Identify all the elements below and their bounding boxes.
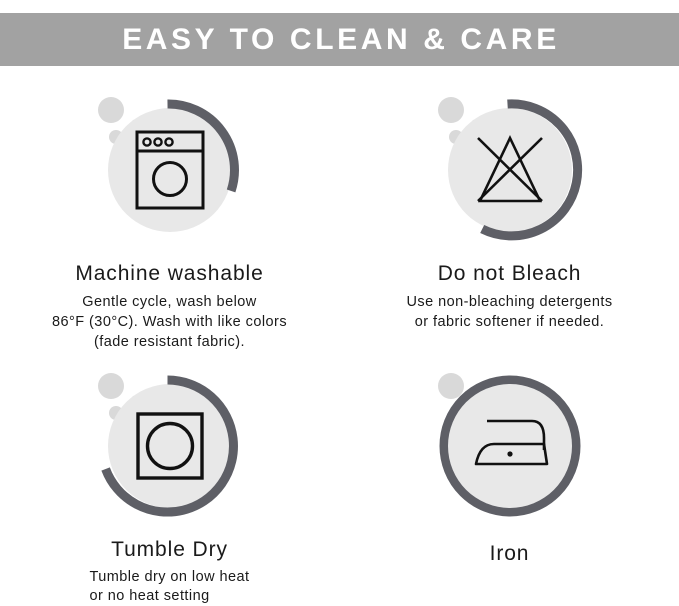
do-not-bleach-icon (420, 80, 600, 260)
badge-circle (448, 384, 572, 508)
badge-iron (420, 356, 600, 536)
care-panel-iron: Iron (340, 356, 679, 572)
washing-machine-icon (80, 80, 260, 260)
care-panel-tumble-dry: Tumble Dry Tumble dry on low heat or no … (0, 356, 339, 606)
page-title: EASY TO CLEAN & CARE (119, 25, 560, 55)
tumble-dry-icon (80, 356, 260, 536)
panel-body-text: Use non-bleaching detergents or fabric s… (340, 292, 679, 332)
care-panel-do-not-bleach: Do not Bleach Use non-bleaching detergen… (340, 80, 679, 332)
bubble-large-icon (98, 97, 124, 123)
panel-body-text: Tumble dry on low heat or no heat settin… (89, 568, 249, 606)
badge-tumble-dry (80, 356, 260, 536)
bubble-large-icon (98, 373, 124, 399)
panel-heading: Iron (340, 542, 679, 566)
header-banner: EASY TO CLEAN & CARE (0, 13, 679, 66)
iron-heat-dot-icon (507, 451, 512, 456)
panel-heading: Machine washable (0, 262, 339, 286)
iron-icon (420, 356, 600, 536)
panel-heading: Do not Bleach (340, 262, 679, 286)
bubble-large-icon (438, 97, 464, 123)
bubble-large-icon (438, 373, 464, 399)
panel-body-text: Gentle cycle, wash below 86°F (30°C). Wa… (0, 292, 339, 352)
badge-machine-washable (80, 80, 260, 260)
care-panel-machine-washable: Machine washable Gentle cycle, wash belo… (0, 80, 339, 352)
badge-do-not-bleach (420, 80, 600, 260)
panel-heading: Tumble Dry (0, 538, 339, 562)
care-instructions-grid: Machine washable Gentle cycle, wash belo… (0, 66, 679, 593)
